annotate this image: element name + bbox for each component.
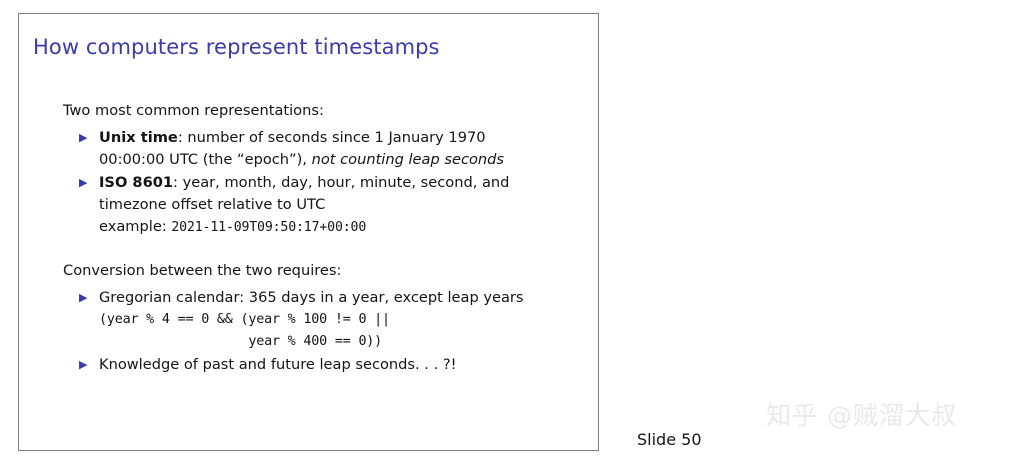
section-intro: Two most common representations: — [63, 100, 573, 122]
section-representations: Two most common representations: ▶ Unix … — [63, 100, 573, 239]
bullet-term: ISO 8601 — [99, 174, 173, 191]
bullet-line: ISO 8601: year, month, day, hour, minute… — [99, 172, 573, 194]
section-intro: Conversion between the two requires: — [63, 260, 573, 282]
triangle-bullet-icon: ▶ — [79, 287, 87, 309]
bullet-list: ▶ Gregorian calendar: 365 days in a year… — [63, 287, 573, 376]
triangle-bullet-icon: ▶ — [79, 127, 87, 149]
section-conversion: Conversion between the two requires: ▶ G… — [63, 260, 573, 376]
triangle-bullet-icon: ▶ — [79, 172, 87, 194]
triangle-bullet-icon: ▶ — [79, 354, 87, 376]
example-label: example: — [99, 218, 171, 235]
bullet-text: : year, month, day, hour, minute, second… — [173, 174, 509, 191]
iso-timestamp-value: 2021-11-09T09:50:17+00:00 — [171, 220, 366, 235]
slide-frame: How computers represent timestamps Two m… — [18, 13, 599, 451]
bullet-line: Gregorian calendar: 365 days in a year, … — [99, 287, 573, 309]
bullet-text: Gregorian calendar: 365 days in a year, … — [99, 289, 524, 306]
section-gap — [63, 240, 573, 260]
bullet-text: 00:00:00 UTC (the “epoch”), — [99, 151, 312, 168]
list-item: ▶ ISO 8601: year, month, day, hour, minu… — [63, 172, 573, 239]
bullet-text: timezone offset relative to UTC — [99, 196, 325, 213]
bullet-text: Knowledge of past and future leap second… — [99, 356, 456, 373]
watermark-text: 知乎 @贼溜大叔 — [766, 396, 957, 432]
bullet-text-italic: not counting leap seconds — [312, 151, 504, 168]
slide-title: How computers represent timestamps — [33, 35, 440, 59]
bullet-line-example: example: 2021-11-09T09:50:17+00:00 — [99, 216, 573, 239]
slide-number-label: Slide 50 — [637, 430, 702, 449]
list-item: ▶ Unix time: number of seconds since 1 J… — [63, 127, 573, 171]
leap-year-code-line-1: (year % 4 == 0 && (year % 100 != 0 || — [99, 309, 573, 331]
bullet-text: : number of seconds since 1 January 1970 — [178, 129, 486, 146]
leap-year-code-line-2: year % 400 == 0)) — [99, 331, 573, 353]
slide-body: Two most common representations: ▶ Unix … — [63, 100, 573, 377]
bullet-term: Unix time — [99, 129, 178, 146]
bullet-line: 00:00:00 UTC (the “epoch”), not counting… — [99, 149, 573, 171]
list-item: ▶ Gregorian calendar: 365 days in a year… — [63, 287, 573, 353]
bullet-line: timezone offset relative to UTC — [99, 194, 573, 216]
list-item: ▶ Knowledge of past and future leap seco… — [63, 354, 573, 376]
bullet-line: Knowledge of past and future leap second… — [99, 354, 573, 376]
bullet-list: ▶ Unix time: number of seconds since 1 J… — [63, 127, 573, 239]
bullet-line: Unix time: number of seconds since 1 Jan… — [99, 127, 573, 149]
